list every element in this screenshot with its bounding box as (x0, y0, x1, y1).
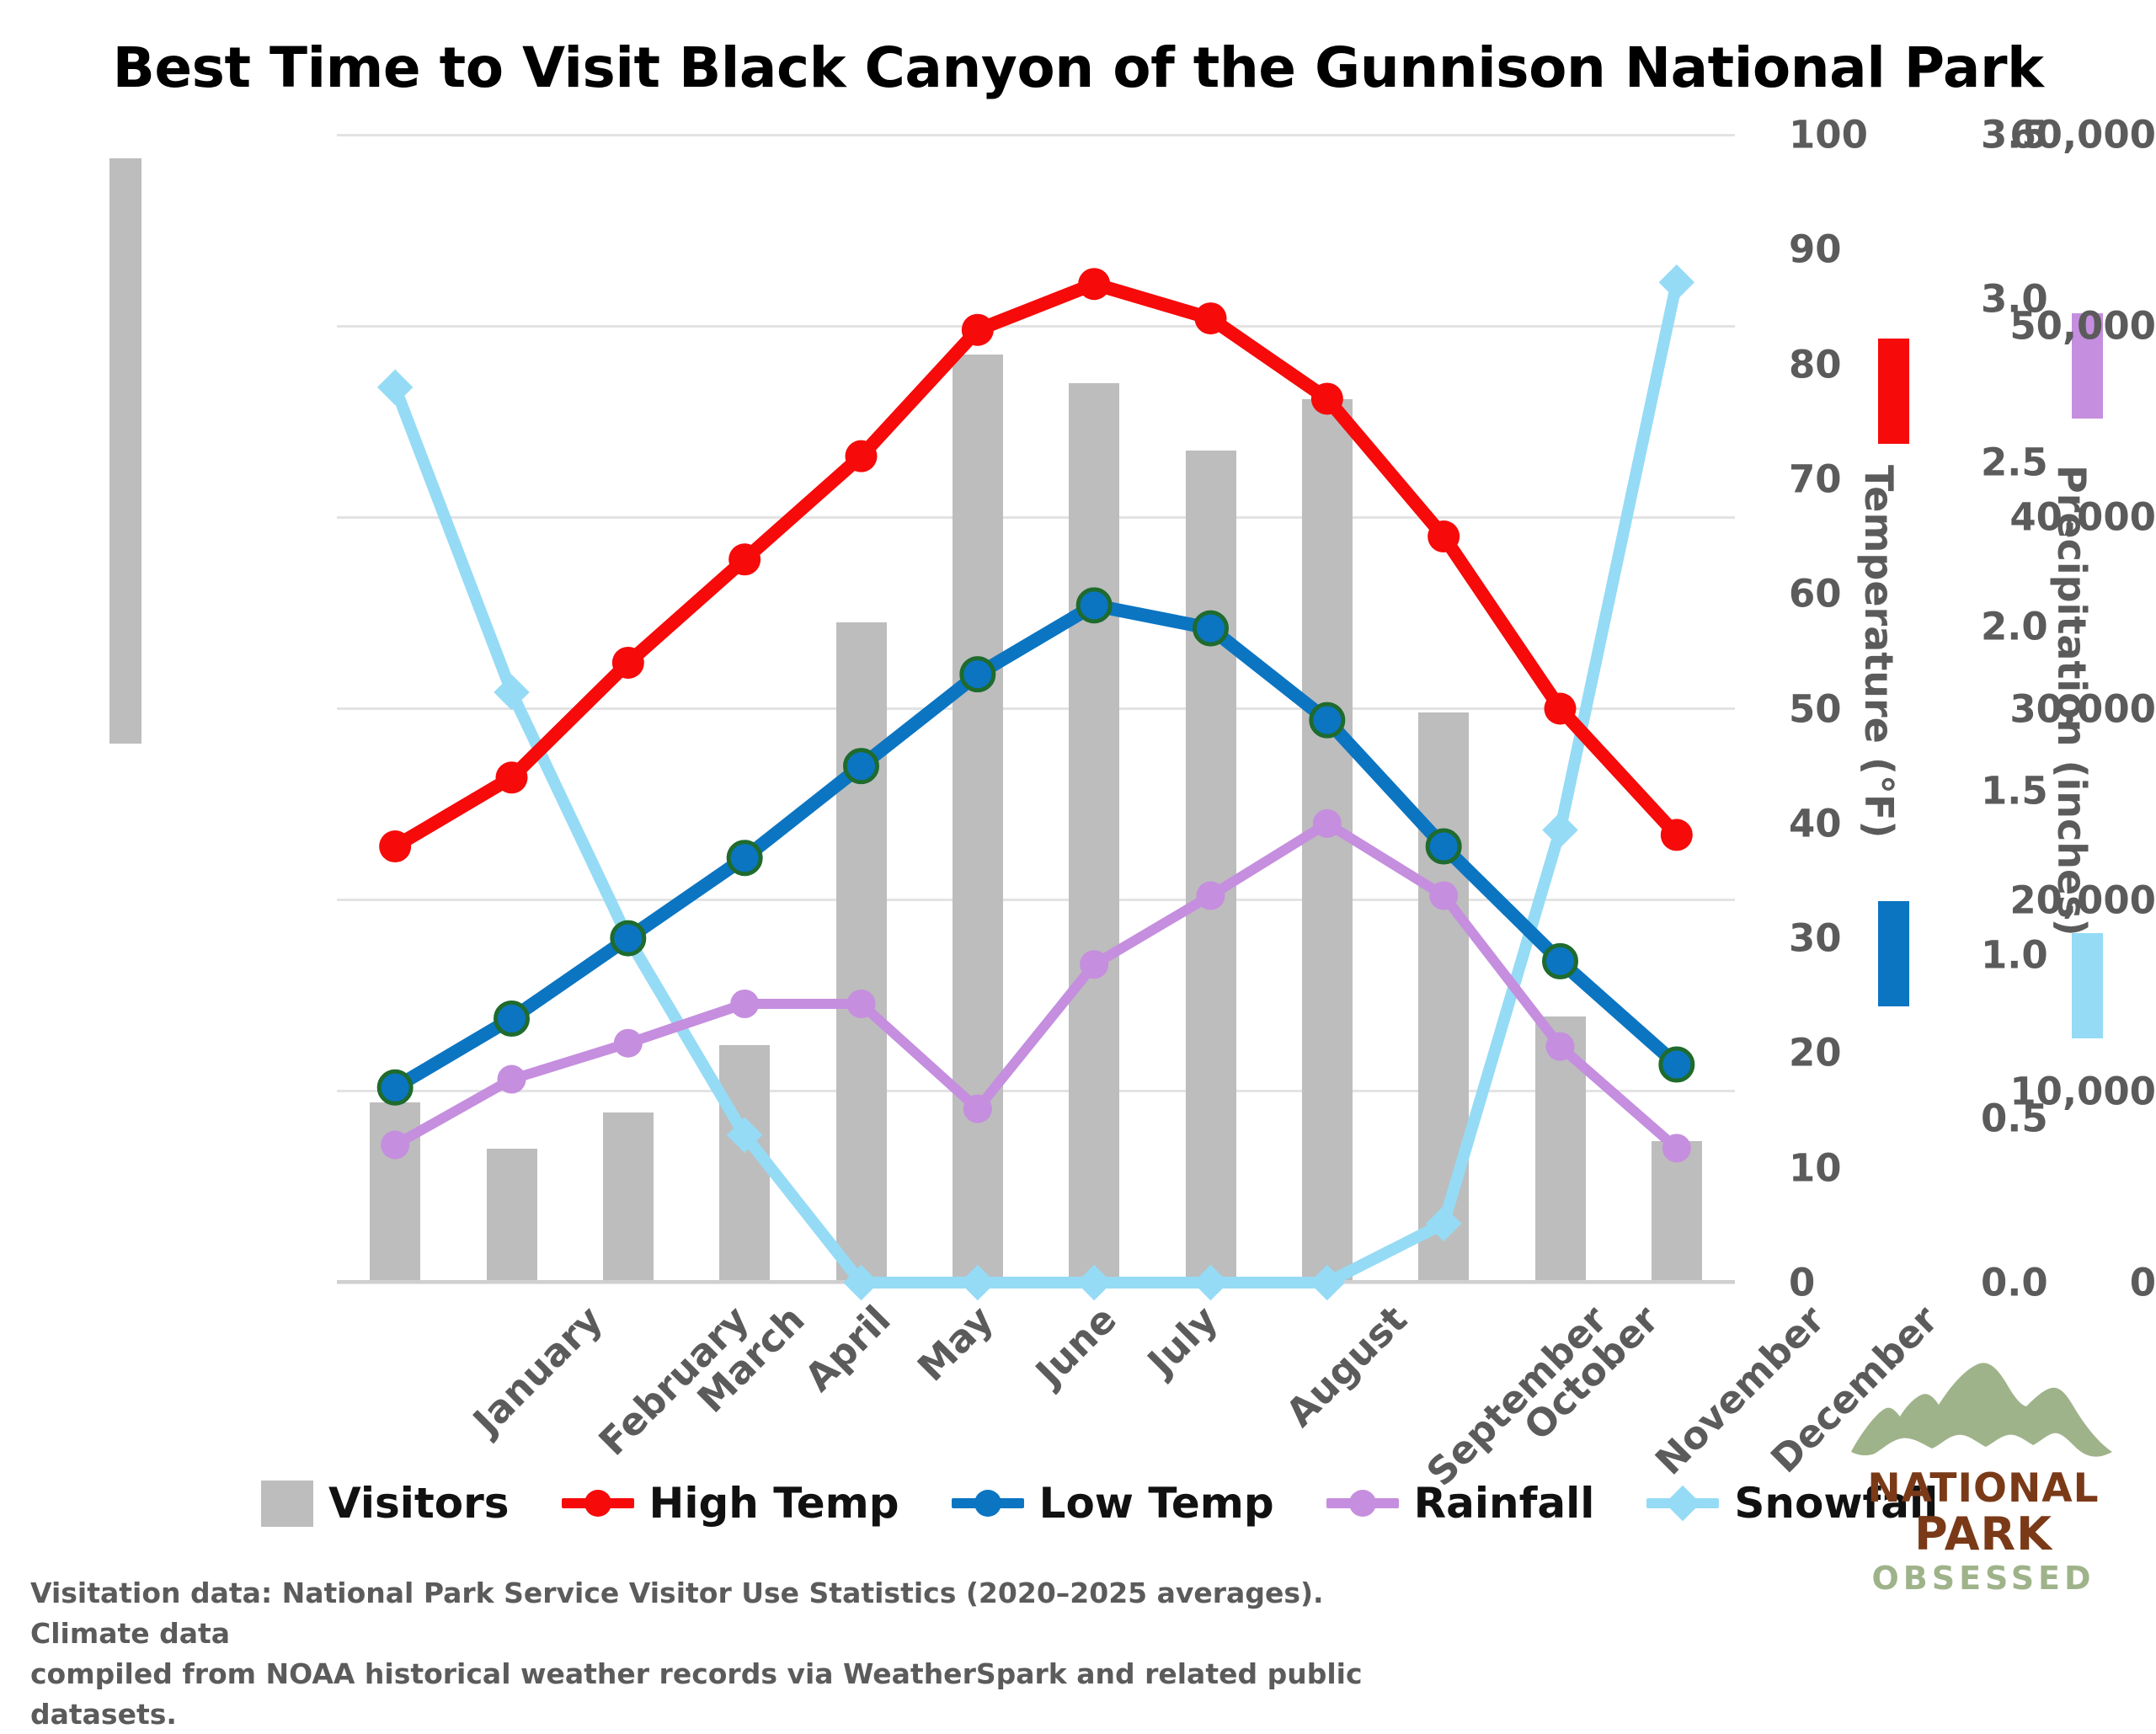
source-note: Visitation data: National Park Service V… (30, 1573, 1378, 1734)
legend-label: Visitors (328, 1479, 510, 1528)
rainfall-point: March: 0.73 (614, 1029, 643, 1058)
x-axis-line (337, 1280, 1735, 1283)
high-temp-point: March: 54 (612, 647, 644, 679)
x-axis-tick-january: January (465, 1297, 611, 1443)
snowfall-point: November: 1.38 (1542, 812, 1577, 847)
visitor-bar (487, 1149, 537, 1283)
visitors-axis-swatch (109, 158, 141, 744)
axis-tick-label: 100 (1789, 113, 1890, 157)
visitor-bar (1652, 1141, 1702, 1283)
mountain-icon (1844, 1358, 2122, 1463)
high-temp-point: June: 83 (962, 314, 994, 346)
axis-tick-label: 2.5 (1981, 440, 2099, 485)
axis-tick-label: 20,000 (1903, 878, 2156, 922)
axis-tick-label: 3.5 (1981, 113, 2099, 157)
axis-tick-label: 1.5 (1981, 768, 2099, 813)
visitor-bar (1535, 1016, 1586, 1283)
axis-tick-label: 30 (1789, 916, 1890, 961)
rainfall-point: April: 0.85 (730, 990, 759, 1018)
legend-marker-icon (1326, 1484, 1399, 1523)
high-temp-point: August: 84 (1195, 302, 1227, 334)
high-temp-point: July: 87 (1078, 268, 1110, 300)
chart-canvas: Best Time to Visit Black Canyon of the G… (0, 0, 2156, 1666)
high-temp-point: February: 44 (496, 761, 528, 793)
snowfall-line (395, 282, 1677, 1283)
low-temp-point: April: 37 (728, 842, 760, 874)
axis-tick-label: 30,000 (1903, 686, 2156, 731)
axis-tick-label: 70 (1789, 456, 1890, 501)
axis-tick-label: 50 (1789, 686, 1890, 731)
axis-tick-label: 0 (1789, 1261, 1890, 1305)
logo-obsessed-text: OBSESSED (1844, 1560, 2122, 1597)
plot-area: January: 2.73February: 1.8March: 1.05Apr… (337, 135, 1735, 1283)
legend-marker-icon (952, 1484, 1024, 1523)
legend-item-high-temp[interactable]: High Temp (562, 1479, 899, 1528)
visitor-bar (603, 1112, 654, 1283)
x-axis-tick-july: July (1139, 1297, 1227, 1385)
low-temp-point: November: 28 (1545, 945, 1577, 977)
high-temp-point: December: 39 (1661, 819, 1693, 851)
axis-tick-label: 20 (1789, 1031, 1890, 1075)
gridline (337, 899, 1735, 901)
gridline (337, 707, 1735, 710)
gridline (337, 1090, 1735, 1092)
visitor-bar (370, 1102, 420, 1283)
axis-tick-label: 1.0 (1981, 932, 2099, 977)
axis-tick-label: 0.5 (1981, 1096, 2099, 1141)
visitor-bar (1302, 399, 1353, 1283)
visitor-bar (1069, 383, 1119, 1283)
low-temp-point: March: 30 (612, 922, 644, 954)
visitor-bar (953, 355, 1003, 1283)
logo-national-text: NATIONAL (1844, 1465, 2122, 1512)
visitor-bar (836, 622, 887, 1283)
x-axis-tick-may: May (909, 1297, 1001, 1390)
high-temp-point: January: 38 (379, 830, 411, 862)
legend-label: Rainfall (1414, 1479, 1595, 1528)
legend-label: Low Temp (1039, 1479, 1274, 1528)
x-axis-tick-june: June (1027, 1297, 1124, 1395)
low-temp-line (395, 606, 1677, 1087)
low-temp-point: December: 19 (1661, 1048, 1693, 1080)
logo-park-text: PARK (1844, 1507, 2122, 1561)
page-title: Best Time to Visit Black Canyon of the G… (0, 35, 2156, 100)
axis-tick-label: 40 (1789, 801, 1890, 846)
axis-tick-label: 90 (1789, 227, 1890, 272)
legend-label: High Temp (649, 1479, 899, 1528)
snowfall-point: December: 3.05 (1659, 264, 1694, 300)
legend-item-rainfall[interactable]: Rainfall (1326, 1479, 1595, 1528)
high-temp-point: October: 65 (1428, 520, 1460, 552)
legend-item-low-temp[interactable]: Low Temp (952, 1479, 1274, 1528)
gridline (337, 134, 1735, 136)
low-temp-point: January: 17 (379, 1071, 411, 1103)
gridline (337, 325, 1735, 328)
source-note-line-1: Visitation data: National Park Service V… (30, 1573, 1378, 1654)
legend-marker-icon (562, 1484, 634, 1523)
temperature-axis-label: Temperature (°F) (1856, 465, 1902, 838)
axis-tick-label: 60 (1789, 572, 1890, 616)
x-axis-tick-august: August (1277, 1297, 1415, 1435)
axis-tick-label: 40,000 (1903, 495, 2156, 540)
low-temp-point: February: 23 (496, 1003, 528, 1035)
x-axis-tick-april: April (796, 1297, 899, 1400)
high-temp-line (395, 284, 1677, 846)
axis-tick-label: 0.0 (1981, 1261, 2099, 1305)
legend-marker-icon (1646, 1484, 1719, 1523)
legend-item-visitors[interactable]: Visitors (261, 1479, 510, 1528)
axis-tick-label: 2.0 (1981, 605, 2099, 649)
legend-swatch-icon (261, 1481, 313, 1527)
visitor-bar (719, 1045, 770, 1283)
high-temp-point: April: 63 (728, 543, 760, 575)
snowfall-point: March: 1.05 (611, 920, 646, 956)
snowfall-point: January: 2.73 (377, 370, 413, 405)
legend: VisitorsHigh TempLow TempRainfallSnowfal… (261, 1479, 1938, 1528)
visitor-bar (1186, 451, 1236, 1283)
axis-tick-label: 80 (1789, 342, 1890, 387)
snowfall-point: February: 1.8 (494, 675, 529, 710)
gridline (337, 516, 1735, 519)
brand-logo: NATIONAL PARK OBSESSED (1844, 1358, 2122, 1610)
visitor-bar (1418, 712, 1469, 1283)
axis-tick-label: 10 (1789, 1145, 1890, 1190)
high-temp-point: May: 72 (846, 440, 878, 472)
rainfall-line (395, 824, 1677, 1149)
axis-tick-label: 3.0 (1981, 276, 2099, 321)
